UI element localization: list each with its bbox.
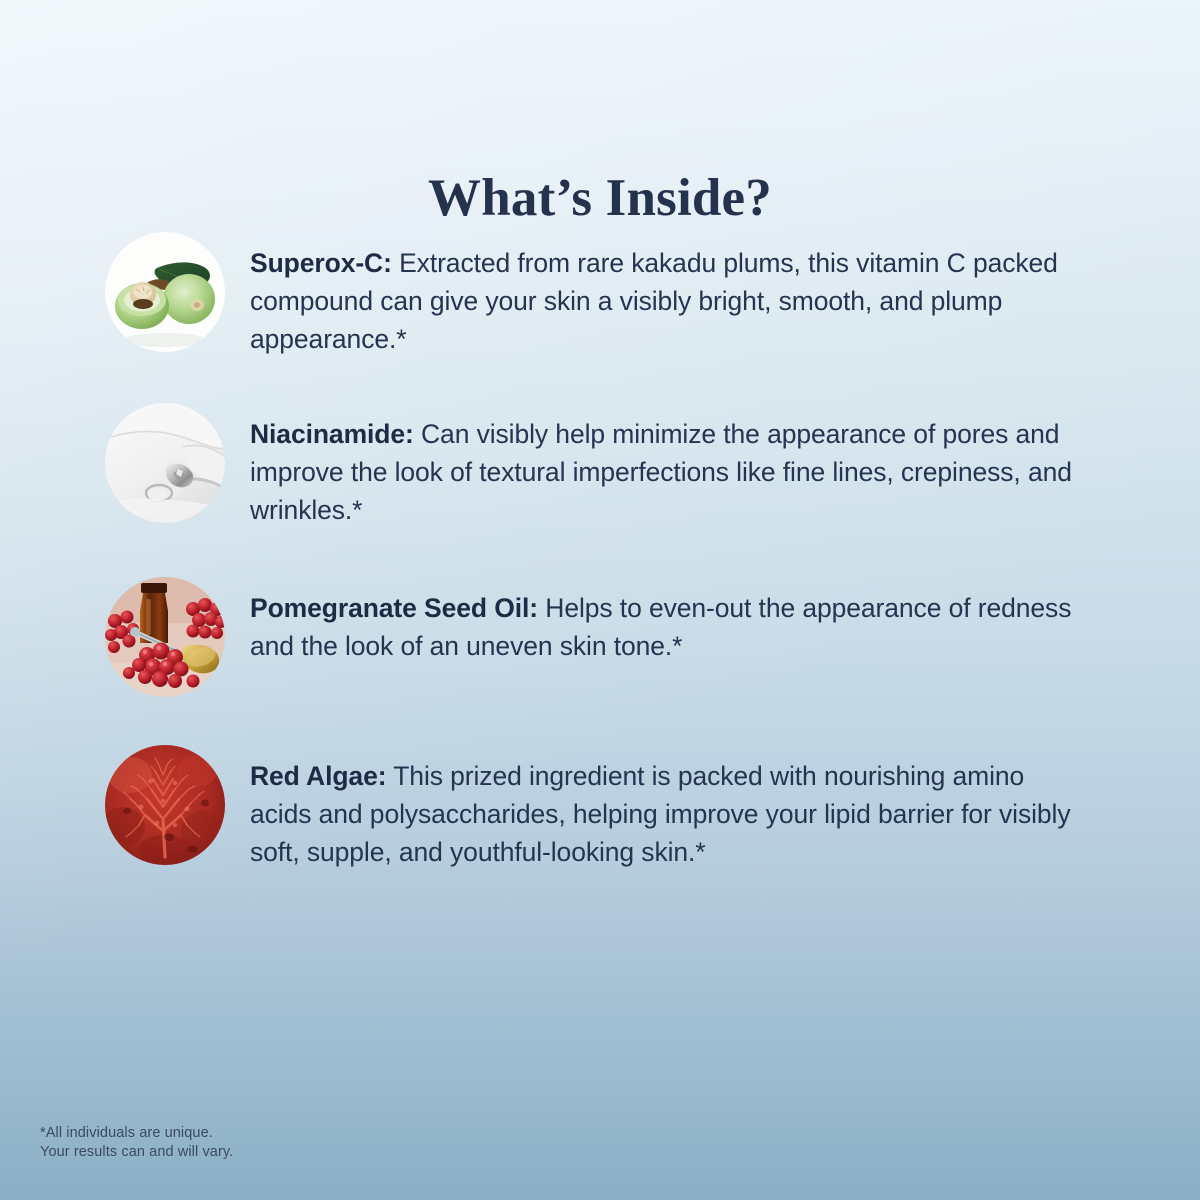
ingredient-name: Superox-C: [250, 248, 392, 278]
footnote: *All individuals are unique. Your result… [40, 1124, 233, 1162]
kakadu-plums-photo [105, 232, 225, 352]
ingredient-item-superox-c: Superox-C: Extracted from rare kakadu pl… [0, 232, 1200, 358]
ingredient-item-niacinamide: Niacinamide: Can visibly help minimize t… [0, 403, 1200, 529]
ingredient-text: Red Algae: This prized ingredient is pac… [250, 745, 1090, 871]
niacinamide-photo [105, 403, 225, 523]
ingredient-list: Superox-C: Extracted from rare kakadu pl… [0, 232, 1200, 871]
ingredient-text: Pomegranate Seed Oil: Helps to even-out … [250, 577, 1090, 665]
ingredient-item-pomegranate-seed-oil: Pomegranate Seed Oil: Helps to even-out … [0, 577, 1200, 697]
whats-inside-panel: What’s Inside? [0, 0, 1200, 1200]
footnote-line-1: *All individuals are unique. [40, 1124, 233, 1143]
ingredient-name: Red Algae: [250, 761, 386, 791]
ingredient-item-red-algae: Red Algae: This prized ingredient is pac… [0, 745, 1200, 871]
ingredient-text: Niacinamide: Can visibly help minimize t… [250, 403, 1090, 529]
ingredient-name: Niacinamide: [250, 419, 414, 449]
ingredient-name: Pomegranate Seed Oil: [250, 593, 538, 623]
red-algae-photo [105, 745, 225, 865]
footnote-line-2: Your results can and will vary. [40, 1143, 233, 1162]
ingredient-text: Superox-C: Extracted from rare kakadu pl… [250, 232, 1090, 358]
page-title: What’s Inside? [0, 169, 1200, 227]
pomegranate-seed-oil-photo [105, 577, 225, 697]
